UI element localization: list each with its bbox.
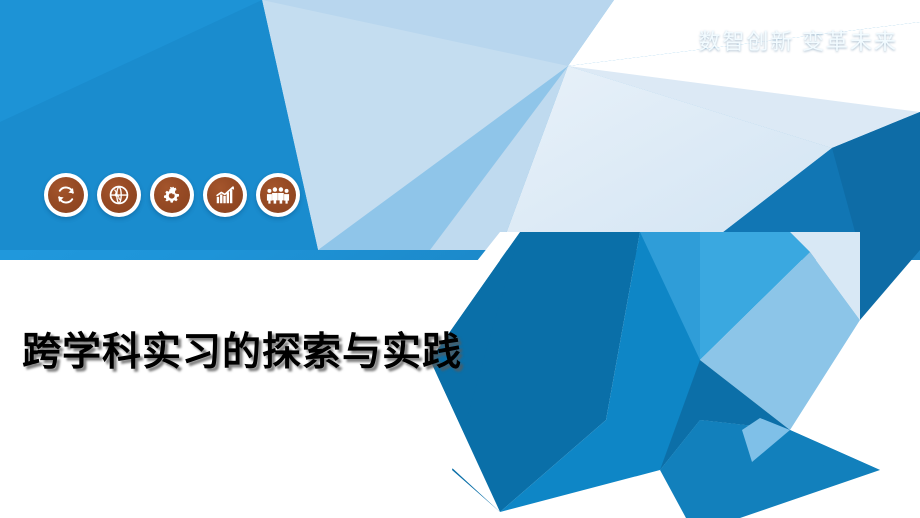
- icon-badge-globe[interactable]: [97, 173, 141, 217]
- low-poly-background-art: [0, 0, 920, 518]
- people-group-icon: [260, 177, 296, 213]
- globe-icon: [101, 177, 137, 213]
- icon-badge-refresh-cycle[interactable]: [44, 173, 88, 217]
- refresh-cycle-icon: [48, 177, 84, 213]
- presentation-cover-slide: 数智创新 变革未来: [0, 0, 920, 518]
- feature-icon-row: [44, 173, 300, 217]
- icon-badge-gears[interactable]: [150, 173, 194, 217]
- slide-tagline: 数智创新 变革未来: [698, 24, 898, 56]
- icon-badge-people-group[interactable]: [256, 173, 300, 217]
- icon-badge-bar-chart[interactable]: [203, 173, 247, 217]
- bar-chart-icon: [207, 177, 243, 213]
- page-title: 跨学科实习的探索与实践: [22, 321, 462, 377]
- gears-icon: [154, 177, 190, 213]
